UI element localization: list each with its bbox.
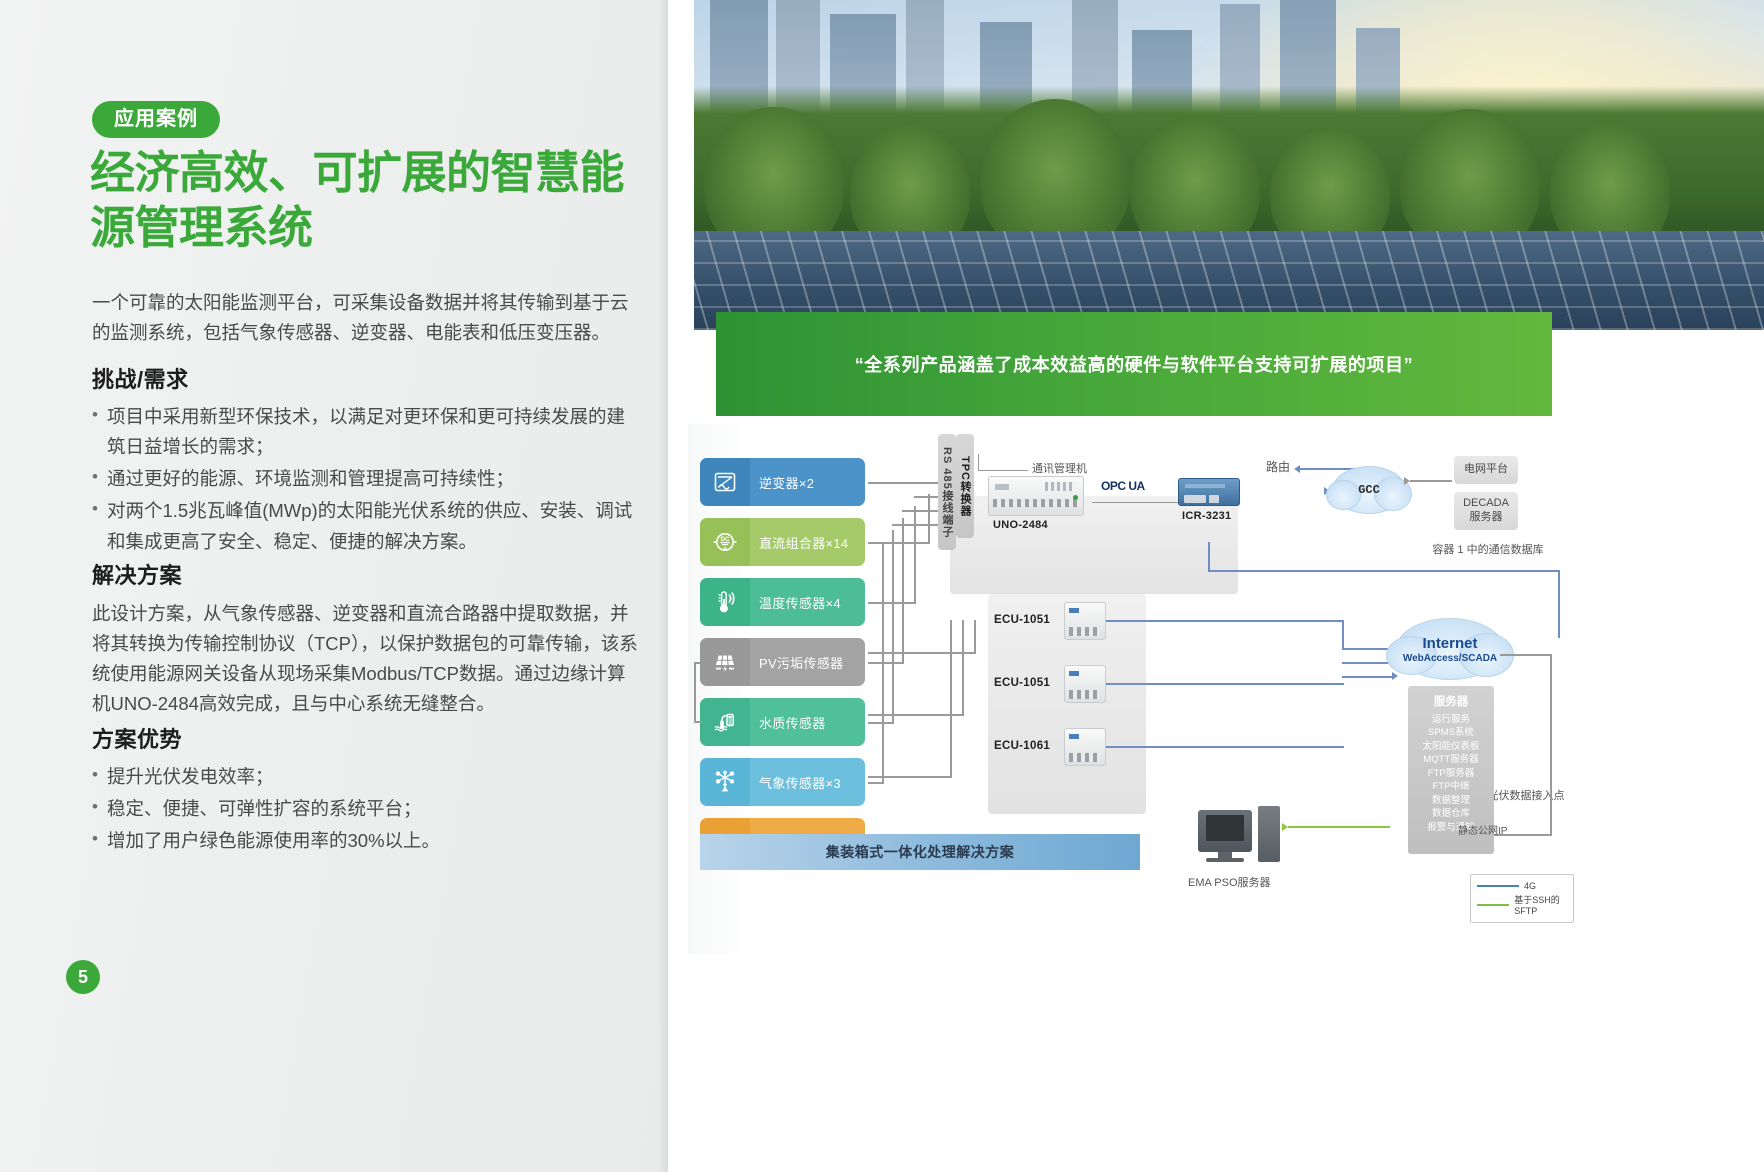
legend-line-icon [1477,904,1509,906]
connector-line [868,662,904,664]
sensor-label: PV污垢传感器 [750,653,865,672]
static-ip-label: 静态公网IP [1458,822,1507,837]
sensor-row-water-quality: 水质传感器 [700,698,865,746]
sensor-label: 逆变器×2 [750,473,865,492]
connector-line [1410,480,1452,482]
sensor-row-temperature: °c 温度传感器×4 [700,578,865,626]
ema-pso-label: EMA PSO服务器 [1188,874,1271,890]
sensor-row-weather: 气象传感器×3 [700,758,865,806]
decada-server-box: DECADA 服务器 [1454,492,1518,530]
server-item: 数据仓库 [1410,807,1492,820]
legend: 4G 基于SSH的SFTP [1470,874,1574,923]
connector-line [694,662,702,664]
sensor-label: 气象传感器×3 [750,773,865,792]
server-item: FTP中继 [1410,780,1492,793]
server-item: 数据整理 [1410,794,1492,807]
svg-text:DC: DC [721,536,730,543]
server-item: 太阳能仪表板 [1410,740,1492,753]
leader-line [978,454,979,471]
solution-paragraph: 此设计方案，从气象传感器、逆变器和直流合路器中提取数据，并将其转换为传输控制协议… [92,599,640,720]
system-architecture-diagram: 逆变器×2 DC 直流组合器×14 °c 温度传感器×4 PV污垢传感器 水质传… [688,424,1764,954]
server-card-header: 服务器 [1410,690,1492,713]
ecu-label-2: ECU-1051 [994,677,1050,689]
category-badge: 应用案例 [92,101,220,138]
uno-2484-label: UNO-2484 [993,519,1048,531]
sensor-label: 温度传感器×4 [750,593,865,612]
grid-platform-box: 电网平台 [1454,456,1518,484]
section-benefits: 方案优势 提升光伏发电效率； 稳定、便捷、可弹性扩容的系统平台； 增加了用户绿色… [92,722,640,858]
section-title-benefits: 方案优势 [92,722,640,754]
section-challenge: 挑战/需求 项目中采用新型环保技术，以满足对更环保和更可持续发展的建筑日益增长的… [92,362,640,559]
right-page: “全系列产品涵盖了成本效益高的硬件与软件平台支持可扩展的项目” 逆变器×2 DC… [668,0,1764,1172]
legend-item-sftp: 基于SSH的SFTP [1477,893,1567,916]
connector-line [950,620,952,778]
list-item: 稳定、便捷、可弹性扩容的系统平台； [92,794,640,824]
connector-line [1500,654,1552,656]
data-flow-line [1106,620,1344,622]
quote-banner: “全系列产品涵盖了成本效益高的硬件与软件平台支持可扩展的项目” [716,312,1552,416]
container-solution-bar: 集装箱式一体化处理解决方案 [700,834,1140,870]
connector-line [694,662,696,722]
photo-edge-mask [680,0,694,330]
ecu-label-3: ECU-1061 [994,740,1050,752]
intro-paragraph: 一个可靠的太阳能监测平台，可采集设备数据并将其传输到基于云的监测系统，包括气象传… [92,288,637,348]
connector-line [1092,502,1184,503]
section-title-solution: 解决方案 [92,558,640,590]
water-quality-icon [700,698,750,746]
sftp-flow-line [1288,826,1390,828]
section-solution: 解决方案 此设计方案，从气象传感器、逆变器和直流合路器中提取数据，并将其转换为传… [92,558,640,720]
challenge-bullet-list: 项目中采用新型环保技术，以满足对更环保和更可持续发展的建筑日益增长的需求； 通过… [92,402,640,557]
icr-3231-router [1178,478,1240,506]
server-item: MQTT服务器 [1410,753,1492,766]
internet-cloud: Internet WebAccess/SCADA [1396,618,1504,680]
container-db-label: 容器 1 中的通信数据库 [950,541,1764,557]
arrow-head [1294,465,1300,473]
dc-combiner-icon: DC [700,518,750,566]
sensor-row-dc-combiner: DC 直流组合器×14 [700,518,865,566]
list-item: 项目中采用新型环保技术，以满足对更环保和更可持续发展的建筑日益增长的需求； [92,402,640,462]
ecu-device-1 [1064,602,1106,640]
sensor-row-inverter: 逆变器×2 [700,458,865,506]
monitor-base [1206,858,1244,862]
sensor-label: 直流组合器×14 [750,533,865,552]
connector-line [892,530,894,723]
webaccess-scada-label: WebAccess/SCADA [1403,653,1497,664]
internet-label: Internet [1422,635,1477,652]
rs485-terminal-tab: RS 485接线端子 [938,434,956,550]
connector-line [694,721,702,723]
svg-text:°c: °c [729,597,734,603]
inverter-icon [700,458,750,506]
connector-line [962,620,964,716]
page-number: 5 [66,960,100,994]
leader-line [978,470,1028,471]
ecu-device-2 [1064,665,1106,703]
icr-3231-label: ICR-3231 [1182,510,1231,522]
server-item: FTP服务器 [1410,767,1492,780]
data-flow-line [1342,620,1344,650]
pv-soiling-icon [700,638,750,686]
opc-ua-label: OPC UA [1101,479,1145,493]
data-flow-line [1208,570,1560,572]
arrow-head [1282,823,1288,831]
ecu-device-3 [1064,728,1106,766]
monitor-icon [1198,810,1252,852]
connector-line [868,776,952,778]
connector-line [868,722,894,724]
server-item: SPMS系统 [1410,726,1492,739]
data-flow-line [1208,542,1210,572]
connector-line [1550,654,1552,834]
arrow-head [1404,477,1410,485]
data-flow-line [1342,662,1394,664]
hero-photo [680,0,1764,330]
section-title-challenge: 挑战/需求 [92,362,640,394]
sensor-row-pv-soiling: PV污垢传感器 [700,638,865,686]
connector-line [868,542,930,544]
connector-line [974,620,976,654]
legend-label: 基于SSH的SFTP [1514,893,1567,916]
sensor-label: 水质传感器 [750,713,865,732]
list-item: 对两个1.5兆瓦峰值(MWp)的太阳能光伏系统的供应、安装、调试和集成更高了安全… [92,496,640,556]
list-item: 通过更好的能源、环境监测和管理提高可持续性； [92,464,640,494]
gcc-label: GCC [1358,483,1380,497]
connector-line [914,506,916,603]
connector-line [868,652,976,654]
connector-line [882,542,884,783]
legend-item-4g: 4G [1477,881,1567,891]
router-label: 路由 [1266,458,1290,475]
connector-line [902,518,904,663]
server-item: 运行服务 [1410,713,1492,726]
data-flow-line [1106,746,1344,748]
ecu-label-1: ECU-1051 [994,614,1050,626]
arrow-head [1392,672,1398,680]
left-page: 应用案例 经济高效、可扩展的智慧能源管理系统 一个可靠的太阳能监测平台，可采集设… [0,0,668,1172]
list-item: 增加了用户绿色能源使用率的30%以上。 [92,826,640,856]
data-flow-line [1558,570,1560,638]
benefits-bullet-list: 提升光伏发电效率； 稳定、便捷、可弹性扩容的系统平台； 增加了用户绿色能源使用率… [92,762,640,856]
uno-2484-device [988,476,1084,516]
pv-access-label: 光伏数据接入点 [988,787,1764,803]
legend-label: 4G [1524,881,1536,891]
gcc-cloud: GCC [1332,466,1406,514]
thermometer-icon: °c [700,578,750,626]
anemometer-icon [700,758,750,806]
comm-manager-label: 通讯管理机 [1032,460,1087,476]
data-flow-line [1106,683,1344,685]
tpc-converter-tab: TPC转换器 [956,434,974,538]
data-flow-line [1342,676,1394,678]
connector-line [928,494,930,544]
page-title: 经济高效、可扩展的智慧能源管理系统 [90,146,630,256]
legend-line-icon [1477,885,1519,887]
list-item: 提升光伏发电效率； [92,762,640,792]
pc-tower-icon [1258,806,1280,862]
